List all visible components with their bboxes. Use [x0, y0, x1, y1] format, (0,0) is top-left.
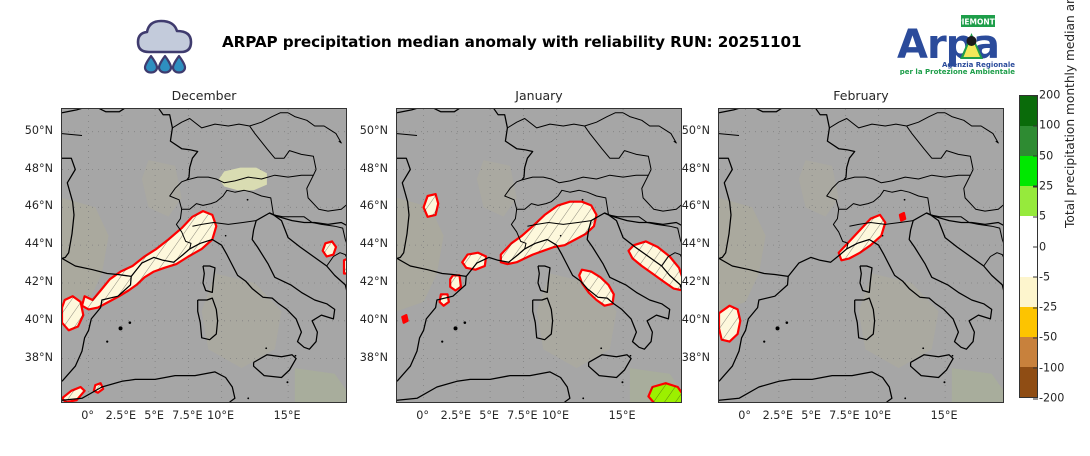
colorbar-band — [1020, 307, 1037, 337]
colorbar-tick: -200 — [1039, 392, 1064, 405]
island-marker — [464, 321, 467, 324]
colorbar-band — [1020, 156, 1037, 186]
island-marker — [882, 235, 884, 237]
anomaly-region — [402, 315, 407, 323]
coastline — [589, 355, 632, 378]
colorbar-band — [1020, 277, 1037, 307]
y-axis-tick: 46°N — [336, 199, 388, 212]
island-marker — [904, 397, 906, 399]
robustness-hatch — [344, 258, 347, 273]
x-axis-tick: 10°E — [191, 409, 251, 422]
colorbar-band — [1020, 337, 1037, 367]
map-canvas — [62, 109, 347, 403]
country-border — [585, 126, 652, 170]
coastline — [397, 372, 570, 402]
island-marker — [265, 347, 267, 349]
country-border — [288, 113, 341, 143]
island-marker — [247, 397, 249, 399]
country-border — [250, 113, 289, 126]
coastline — [203, 266, 215, 292]
island-marker — [952, 355, 954, 357]
y-axis-tick: 42°N — [336, 275, 388, 288]
country-border — [397, 134, 417, 136]
colorbar-tick: 25 — [1039, 179, 1053, 192]
map-frame[interactable] — [718, 108, 1004, 403]
colorbar-tick: 0 — [1039, 240, 1046, 253]
island-marker — [630, 355, 632, 357]
anomaly-wash — [295, 368, 347, 403]
island-marker — [106, 340, 108, 342]
country-border — [907, 113, 946, 126]
y-axis-tick: 44°N — [1, 237, 53, 250]
y-axis-tick: 48°N — [1, 162, 53, 175]
island-marker — [441, 340, 443, 342]
colorbar-label: Total precipitation monthly median anoma… — [1063, 0, 1077, 228]
country-border — [844, 170, 973, 183]
colorbar-tick: -25 — [1039, 301, 1057, 314]
y-axis-tick: 38°N — [336, 351, 388, 364]
y-axis-tick: 48°N — [658, 162, 710, 175]
panel-title-january: January — [396, 88, 682, 103]
country-border — [827, 180, 931, 215]
island-marker — [943, 381, 945, 383]
colorbar-tick: 200 — [1039, 89, 1060, 102]
country-border — [172, 119, 249, 128]
island-marker — [776, 326, 780, 330]
coastline — [719, 372, 892, 402]
colorbar-tick: -50 — [1039, 331, 1057, 344]
island-marker — [582, 199, 584, 201]
svg-text:per la Protezione Ambientale: per la Protezione Ambientale — [900, 68, 1015, 75]
map-canvas — [397, 109, 682, 403]
y-axis-tick: 38°N — [1, 351, 53, 364]
y-axis-tick: 44°N — [336, 237, 388, 250]
country-border — [507, 119, 584, 128]
coastline — [860, 266, 872, 292]
coastline — [538, 266, 550, 292]
x-axis-tick: 15°E — [914, 409, 974, 422]
island-marker — [295, 355, 297, 357]
rain-cloud-icon — [129, 12, 201, 74]
country-border — [945, 113, 998, 143]
y-axis-tick: 40°N — [1, 313, 53, 326]
island-marker — [119, 326, 123, 330]
country-border — [829, 119, 906, 128]
robustness-hatch — [719, 306, 740, 342]
x-axis-tick: 15°E — [257, 409, 317, 422]
country-border — [719, 134, 739, 136]
anomaly-wash — [952, 368, 1004, 403]
island-marker — [225, 235, 227, 237]
island-marker — [560, 235, 562, 237]
colorbar-tick: 100 — [1039, 119, 1060, 132]
coastline — [62, 372, 235, 402]
colorbar-tick: 5 — [1039, 210, 1046, 223]
colorbar-band — [1020, 186, 1037, 216]
x-axis-tick: 15°E — [592, 409, 652, 422]
anomaly-region — [900, 213, 905, 221]
svg-text:PIEMONTE: PIEMONTE — [956, 18, 1000, 27]
y-axis-tick: 42°N — [658, 275, 710, 288]
y-axis-tick: 48°N — [336, 162, 388, 175]
island-marker — [247, 199, 249, 201]
island-marker — [763, 340, 765, 342]
colorbar-band — [1020, 246, 1037, 276]
colorbar-tick: 50 — [1039, 149, 1053, 162]
island-marker — [922, 347, 924, 349]
coastline — [719, 109, 855, 180]
map-frame[interactable] — [61, 108, 347, 403]
colorbar-band — [1020, 126, 1037, 156]
x-axis-tick: 10°E — [526, 409, 586, 422]
country-border — [250, 126, 317, 170]
page-title: ARPAP precipitation median anomaly with … — [222, 33, 801, 51]
colorbar-tick: -5 — [1039, 270, 1050, 283]
anomaly-wash — [202, 274, 282, 369]
x-axis-tick: 10°E — [848, 409, 908, 422]
anomaly-wash — [859, 274, 939, 369]
country-border — [907, 126, 974, 170]
coastline — [62, 109, 198, 180]
map-canvas — [719, 109, 1004, 403]
island-marker — [454, 326, 458, 330]
y-axis-tick: 50°N — [336, 124, 388, 137]
island-marker — [582, 397, 584, 399]
arpa-piemonte-logo: Arp a PIEMONTE Agenzia Regionale per la … — [897, 13, 1023, 75]
coastline — [254, 355, 297, 378]
y-axis-tick: 50°N — [658, 124, 710, 137]
island-marker — [129, 321, 132, 324]
island-marker — [286, 381, 288, 383]
y-axis-tick: 40°N — [336, 313, 388, 326]
y-axis-tick: 50°N — [1, 124, 53, 137]
y-axis-tick: 42°N — [1, 275, 53, 288]
coastline — [397, 109, 533, 180]
island-marker — [904, 199, 906, 201]
y-axis-tick: 38°N — [658, 351, 710, 364]
country-border — [833, 209, 848, 249]
island-marker — [786, 321, 789, 324]
map-frame[interactable] — [396, 108, 682, 403]
country-border — [984, 253, 1004, 266]
country-border — [522, 170, 651, 183]
island-marker — [600, 347, 602, 349]
country-border — [585, 113, 624, 126]
country-border — [62, 134, 82, 136]
colorbar-tick: -100 — [1039, 361, 1064, 374]
page-header: ARPAP precipitation median anomaly with … — [0, 0, 1090, 82]
colorbar-band — [1020, 367, 1037, 397]
y-axis-tick: 44°N — [658, 237, 710, 250]
colorbar-band — [1020, 96, 1037, 126]
country-border — [969, 223, 1004, 248]
colorbar-band — [1020, 216, 1037, 246]
coastline — [911, 355, 954, 378]
panel-title-february: February — [718, 88, 1004, 103]
y-axis-tick: 46°N — [658, 199, 710, 212]
island-marker — [621, 381, 623, 383]
panel-title-december: December — [61, 88, 347, 103]
y-axis-tick: 40°N — [658, 313, 710, 326]
country-border — [964, 175, 1004, 211]
y-axis-tick: 46°N — [1, 199, 53, 212]
anomaly-wash — [719, 198, 766, 311]
